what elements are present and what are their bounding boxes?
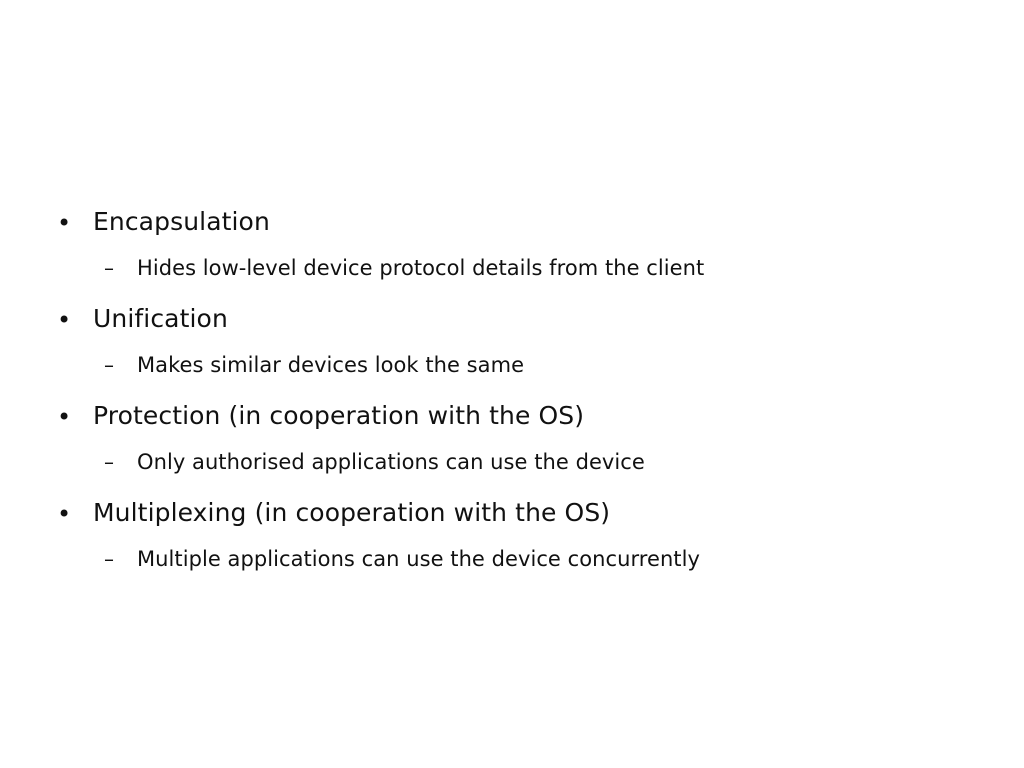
bullet-group-protection: • Protection (in cooperation with the OS… xyxy=(0,399,1024,496)
bullet-dash-icon: – xyxy=(104,253,137,283)
bullet-label-level2: Multiple applications can use the device… xyxy=(137,544,700,574)
bullet-label-level1: Multiplexing (in cooperation with the OS… xyxy=(93,496,610,530)
bullet-dash-icon: – xyxy=(104,544,137,574)
bullet-item-level2: – Multiple applications can use the devi… xyxy=(0,544,1024,593)
bullet-item-level2: – Hides low-level device protocol detail… xyxy=(0,253,1024,302)
bullet-item-level1: • Unification xyxy=(0,302,1024,350)
bullet-label-level2: Hides low-level device protocol details … xyxy=(137,253,704,283)
slide-canvas: • Encapsulation – Hides low-level device… xyxy=(0,0,1024,768)
bullet-label-level2: Makes similar devices look the same xyxy=(137,350,524,380)
slide-content-body: • Encapsulation – Hides low-level device… xyxy=(0,205,1024,593)
bullet-label-level1: Unification xyxy=(93,302,228,336)
bullet-dash-icon: – xyxy=(104,350,137,380)
bullet-group-multiplexing: • Multiplexing (in cooperation with the … xyxy=(0,496,1024,593)
bullet-group-encapsulation: • Encapsulation – Hides low-level device… xyxy=(0,205,1024,302)
bullet-item-level1: • Encapsulation xyxy=(0,205,1024,253)
bullet-label-level1: Protection (in cooperation with the OS) xyxy=(93,399,584,433)
bullet-label-level2: Only authorised applications can use the… xyxy=(137,447,645,477)
bullet-dot-icon: • xyxy=(57,302,93,337)
bullet-dot-icon: • xyxy=(57,399,93,434)
bullet-item-level2: – Only authorised applications can use t… xyxy=(0,447,1024,496)
bullet-item-level2: – Makes similar devices look the same xyxy=(0,350,1024,399)
bullet-item-level1: • Multiplexing (in cooperation with the … xyxy=(0,496,1024,544)
bullet-item-level1: • Protection (in cooperation with the OS… xyxy=(0,399,1024,447)
bullet-dot-icon: • xyxy=(57,205,93,240)
bullet-label-level1: Encapsulation xyxy=(93,205,270,239)
bullet-dash-icon: – xyxy=(104,447,137,477)
bullet-dot-icon: • xyxy=(57,496,93,531)
bullet-group-unification: • Unification – Makes similar devices lo… xyxy=(0,302,1024,399)
